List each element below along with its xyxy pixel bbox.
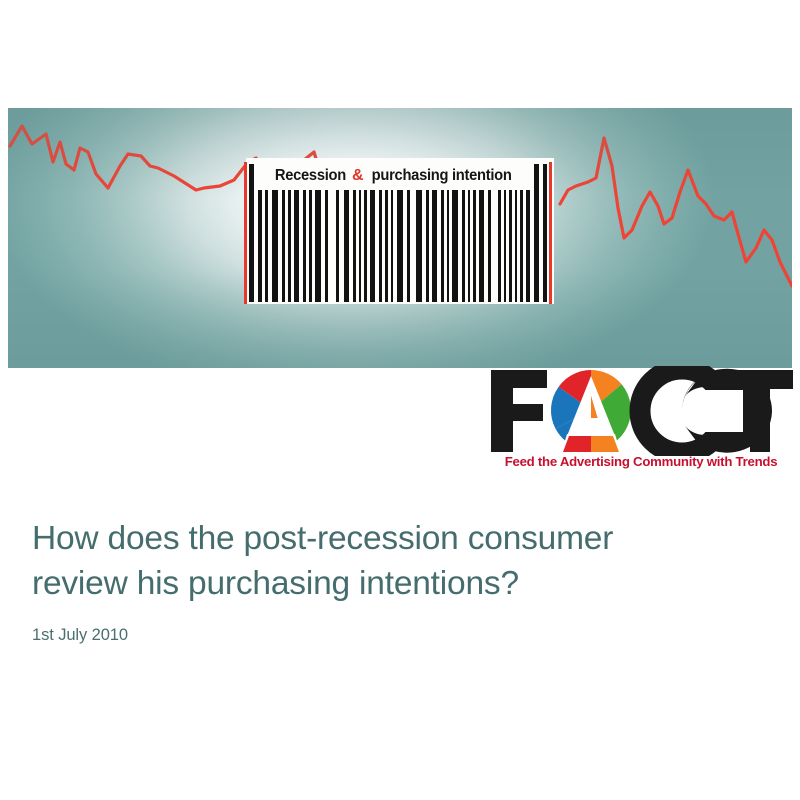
barcode-bar (479, 190, 484, 302)
barcode-bar (416, 190, 422, 302)
logo-a-crossbar-gap (582, 432, 600, 436)
hero-banner: Recession & purchasing intention (8, 108, 792, 368)
barcode-bar (282, 190, 285, 302)
barcode-bar (468, 190, 470, 302)
barcode-label-word-1: Recession (275, 167, 346, 185)
barcode-bar (462, 190, 465, 302)
barcode-bar (359, 190, 361, 302)
barcode-bar (447, 190, 449, 302)
barcode-label-word-2: purchasing intention (371, 167, 511, 185)
barcode-bar (344, 190, 349, 302)
barcode-graphic: Recession & purchasing intention (240, 158, 560, 304)
barcode-bar (364, 190, 367, 302)
fact-logo: Feed the Advertising Community with Tren… (487, 366, 795, 478)
barcode-bar (370, 190, 375, 302)
logo-letter-a-fan (551, 370, 631, 454)
barcode-bar (385, 190, 388, 302)
page-title: How does the post-recession consumer rev… (32, 516, 752, 606)
trend-line-right-segment (560, 138, 792, 286)
barcode-bar (488, 190, 491, 302)
barcode-bar (473, 190, 476, 302)
barcode-guard-bar-left (249, 164, 254, 302)
barcode-bar (452, 190, 458, 302)
barcode-bar (432, 190, 437, 302)
barcode-red-edge-right (549, 162, 552, 304)
barcode-bar (391, 190, 393, 302)
barcode-bar (520, 190, 523, 302)
barcode-bar (353, 190, 356, 302)
barcode-bar (515, 190, 517, 302)
barcode-bar (441, 190, 444, 302)
slide-date: 1st July 2010 (32, 626, 752, 645)
barcode-bar (498, 190, 501, 302)
barcode-bar (303, 190, 306, 302)
barcode-bar (272, 190, 278, 302)
barcode-guard-bar-right-2 (543, 164, 547, 302)
fact-wordmark (487, 366, 795, 456)
barcode-bar (509, 190, 512, 302)
logo-letter-f (491, 370, 547, 452)
barcode-bar (258, 190, 262, 302)
logo-c-mouth (701, 390, 743, 432)
barcode-label-ampersand: & (352, 167, 364, 185)
barcode-bar (504, 190, 506, 302)
barcode-bar (397, 190, 403, 302)
barcode-bar (265, 190, 268, 302)
barcode-bar (315, 190, 321, 302)
barcode-bar (309, 190, 312, 302)
barcode-label: Recession & purchasing intention (260, 163, 528, 189)
barcode-red-edge-left (244, 162, 247, 304)
barcode-bar (407, 190, 410, 302)
barcode-bars (258, 190, 530, 302)
barcode-bar (426, 190, 429, 302)
barcode-guard-bar-right-1 (534, 164, 539, 302)
title-block: How does the post-recession consumer rev… (32, 516, 752, 645)
fact-tagline: Feed the Advertising Community with Tren… (487, 454, 795, 469)
barcode-bar (336, 190, 339, 302)
barcode-bar (325, 190, 328, 302)
barcode-bar (294, 190, 299, 302)
barcode-bar (288, 190, 291, 302)
barcode-bar (379, 190, 382, 302)
barcode-bar (526, 190, 530, 302)
